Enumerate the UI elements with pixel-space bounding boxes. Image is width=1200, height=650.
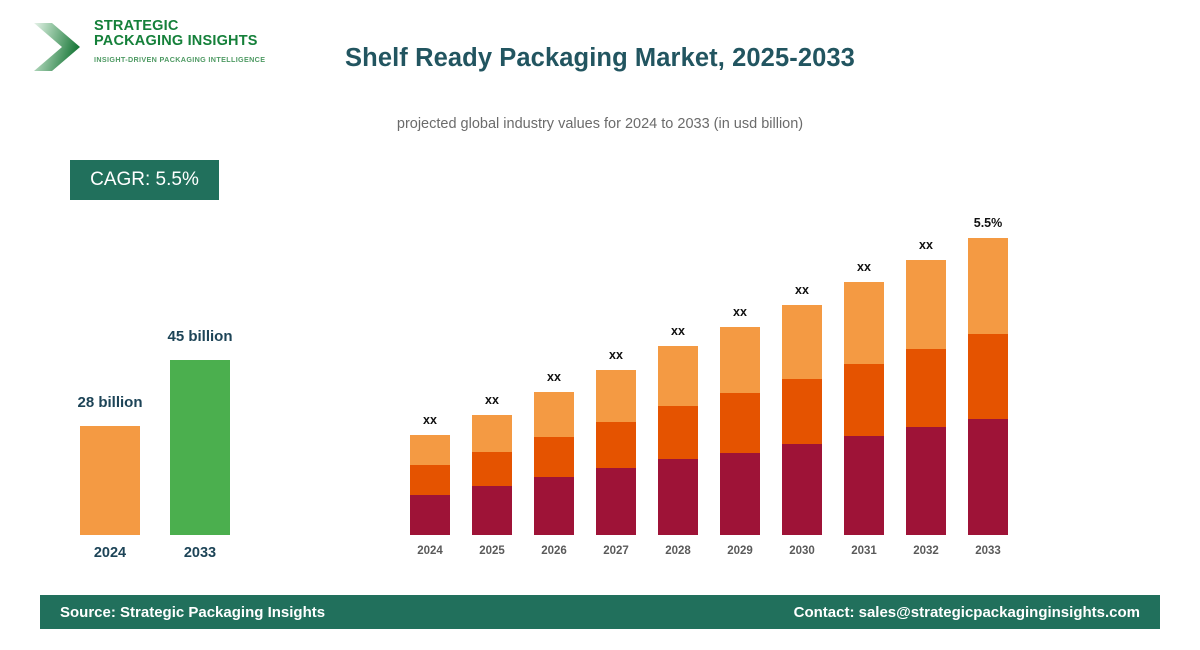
page-title: Shelf Ready Packaging Market, 2025-2033 (250, 44, 950, 73)
stacked-bar-column: 5.5%2033 (958, 190, 1018, 560)
stacked-bar (968, 238, 1008, 535)
comparison-bar-2033 (170, 360, 230, 535)
stacked-bar-category-label: 2024 (400, 545, 460, 557)
stacked-bar-segment-segment-2 (844, 364, 884, 436)
stacked-bar-value-label: xx (586, 348, 646, 362)
stacked-bar-value-label: xx (400, 413, 460, 427)
stacked-bar-segment-segment-3 (534, 392, 574, 436)
stacked-bar-segment-segment-2 (720, 393, 760, 452)
stacked-bar-column: xx2028 (648, 190, 708, 560)
stacked-bar-segment-segment-1 (720, 453, 760, 535)
infographic-canvas: STRATEGIC PACKAGING INSIGHTS INSIGHT-DRI… (0, 0, 1200, 650)
stacked-bar-segment-segment-3 (596, 370, 636, 422)
stacked-bar-segment-segment-3 (658, 346, 698, 406)
footer-contact: Contact: sales@strategicpackaginginsight… (794, 604, 1140, 621)
stacked-bar-segment-segment-1 (906, 427, 946, 535)
stacked-bar-column: xx2030 (772, 190, 832, 560)
stacked-bar-value-label: xx (462, 393, 522, 407)
stacked-bar-segment-segment-3 (720, 327, 760, 394)
stacked-bar-column: xx2026 (524, 190, 584, 560)
stacked-bar-column: xx2029 (710, 190, 770, 560)
stacked-bar (472, 415, 512, 535)
stacked-bar-category-label: 2030 (772, 545, 832, 557)
stacked-bar-value-label: xx (772, 283, 832, 297)
page-subtitle: projected global industry values for 202… (250, 116, 950, 132)
comparison-bar-chart: 28 billion 45 billion 2024 2033 (0, 0, 320, 650)
stacked-bar-segment-segment-2 (906, 349, 946, 427)
stacked-bar-value-label: xx (524, 370, 584, 384)
stacked-bar-segment-segment-1 (596, 468, 636, 535)
comparison-category-label: 2033 (140, 545, 260, 561)
stacked-bar-column: xx2031 (834, 190, 894, 560)
stacked-bar-segment-segment-1 (844, 436, 884, 535)
comparison-value-label: 45 billion (140, 328, 260, 345)
stacked-bar-segment-segment-3 (968, 238, 1008, 334)
stacked-bar-segment-segment-3 (782, 305, 822, 379)
stacked-bar (596, 370, 636, 535)
stacked-bar-segment-segment-1 (658, 459, 698, 535)
stacked-bar (410, 435, 450, 535)
stacked-bar-segment-segment-2 (596, 422, 636, 469)
stacked-bar-column: xx2024 (400, 190, 460, 560)
stacked-bar-segment-segment-2 (472, 452, 512, 487)
stacked-bar-segment-segment-2 (782, 379, 822, 445)
stacked-bar-category-label: 2029 (710, 545, 770, 557)
stacked-bar (782, 305, 822, 535)
stacked-bar-segment-segment-1 (968, 419, 1008, 535)
stacked-bar-segment-segment-2 (410, 465, 450, 495)
stacked-bar (534, 392, 574, 535)
stacked-bar-segment-segment-3 (410, 435, 450, 466)
stacked-bar (844, 282, 884, 535)
stacked-bar (720, 327, 760, 535)
comparison-value-label: 28 billion (50, 394, 170, 411)
stacked-bar-segment-segment-2 (658, 406, 698, 459)
stacked-bar-column: xx2027 (586, 190, 646, 560)
stacked-bar-segment-segment-3 (844, 282, 884, 363)
footer-bar: Source: Strategic Packaging Insights Con… (40, 595, 1160, 629)
comparison-bar-2024 (80, 426, 140, 535)
stacked-bar-value-label: xx (834, 260, 894, 274)
stacked-bar-category-label: 2027 (586, 545, 646, 557)
stacked-bar-value-label: xx (896, 238, 956, 252)
stacked-bar-segment-segment-1 (472, 486, 512, 535)
footer-source: Source: Strategic Packaging Insights (60, 604, 325, 621)
stacked-bar-segment-segment-2 (534, 437, 574, 477)
stacked-bar-segment-segment-3 (906, 260, 946, 349)
stacked-bar-category-label: 2028 (648, 545, 708, 557)
stacked-bar (658, 346, 698, 535)
stacked-bar-category-label: 2032 (896, 545, 956, 557)
stacked-bar-category-label: 2025 (462, 545, 522, 557)
stacked-bar-segment-segment-1 (782, 444, 822, 535)
stacked-bar-segment-segment-2 (968, 334, 1008, 419)
stacked-bar-segment-segment-1 (534, 477, 574, 535)
stacked-bar-segment-segment-3 (472, 415, 512, 452)
stacked-bar-column: xx2025 (462, 190, 522, 560)
stacked-bar-value-label: xx (710, 305, 770, 319)
stacked-bar (906, 260, 946, 535)
stacked-bar-category-label: 2031 (834, 545, 894, 557)
stacked-bar-column: xx2032 (896, 190, 956, 560)
stacked-bar-chart: xx2024xx2025xx2026xx2027xx2028xx2029xx20… (400, 190, 1020, 560)
stacked-bar-value-label: 5.5% (958, 216, 1018, 230)
stacked-bar-category-label: 2026 (524, 545, 584, 557)
stacked-bar-segment-segment-1 (410, 495, 450, 535)
stacked-bar-value-label: xx (648, 324, 708, 338)
stacked-bar-category-label: 2033 (958, 545, 1018, 557)
